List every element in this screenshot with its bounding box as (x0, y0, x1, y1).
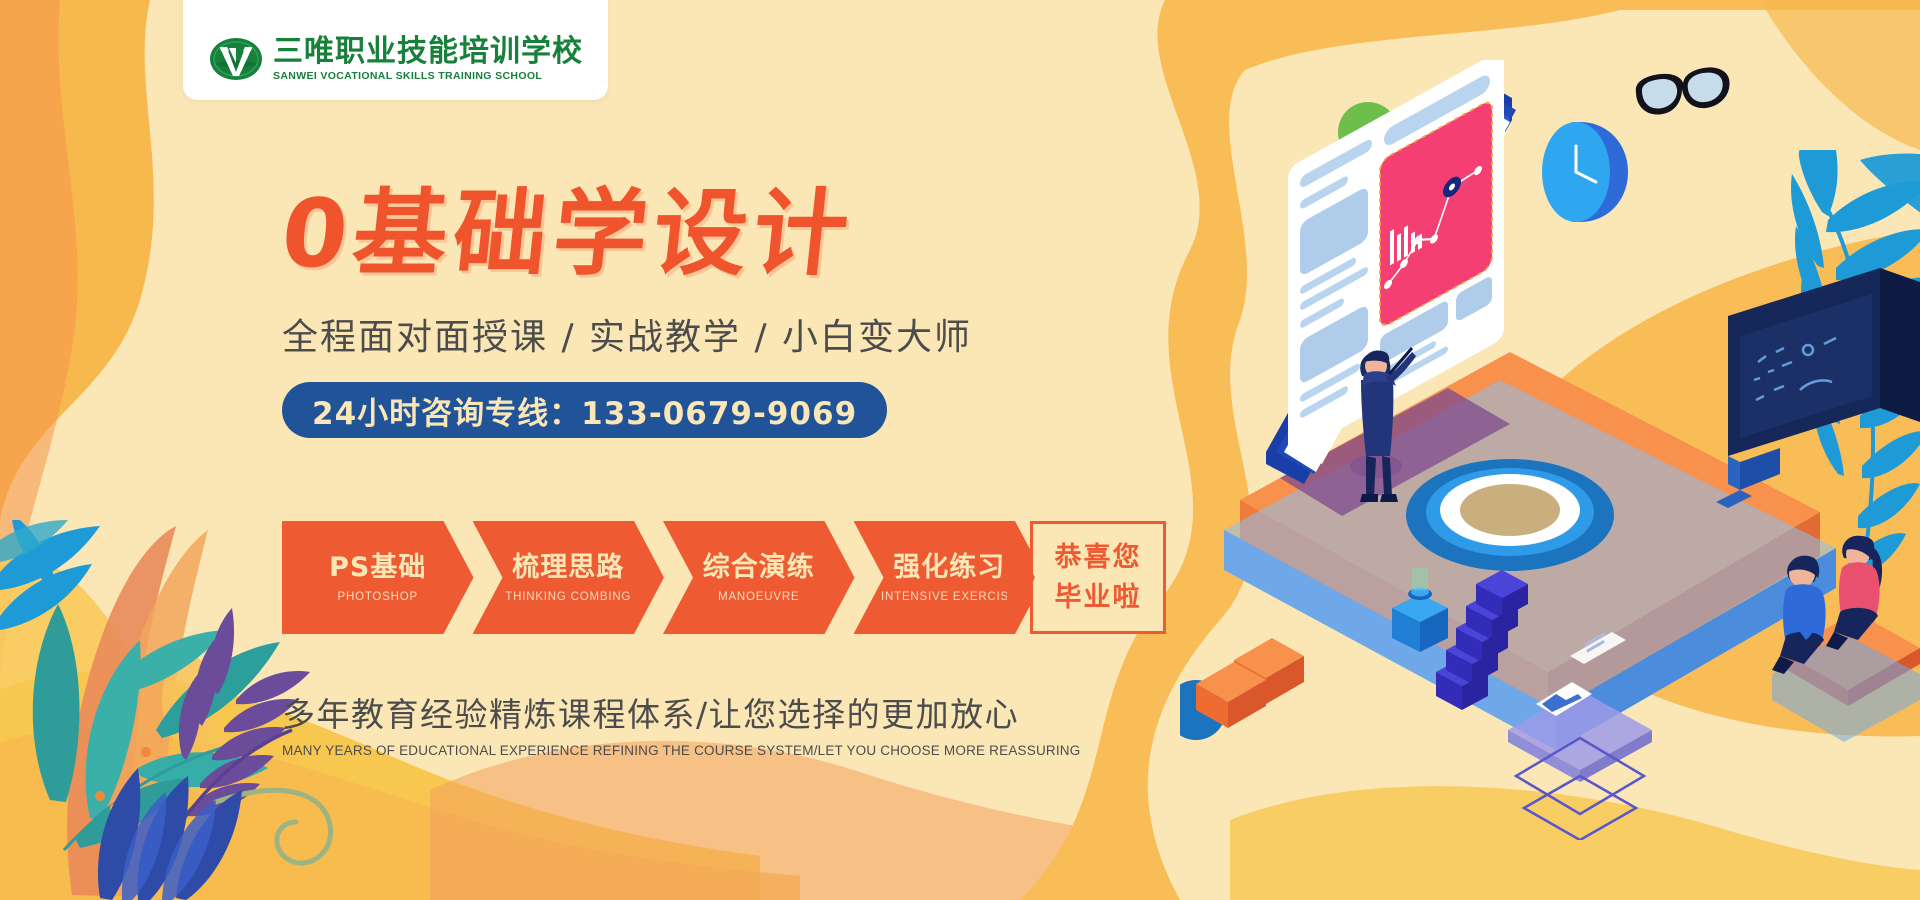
hero-subtitle: 全程面对面授课 / 实战教学 / 小白变大师 (282, 308, 1182, 360)
w-monogram-oval-icon (209, 32, 263, 86)
tagline-en: MANY YEARS OF EDUCATIONAL EXPERIENCE REF… (282, 743, 1102, 758)
seated-students (1772, 536, 1920, 742)
brand-name-cn: 三唯职业技能培训学校 (273, 36, 583, 68)
brand-logo-card[interactable]: 三唯职业技能培训学校 SANWEI VOCATIONAL SKILLS TRAI… (183, 0, 608, 100)
step-title-en: INTENSIVE EXERCISE (881, 591, 1017, 603)
wall-clock-icon (1542, 122, 1628, 222)
step-item-1[interactable]: PS基础 PHOTOSHOP (282, 521, 474, 634)
graduation-line-2: 毕业啦 (1055, 578, 1142, 617)
step-title-cn: PS基础 (329, 552, 426, 583)
footer-tagline: 多年教育经验精炼课程体系/让您选择的更加放心 MANY YEARS OF EDU… (282, 688, 1102, 758)
hero-copy: 0基础学设计 全程面对面授课 / 实战教学 / 小白变大师 24小时咨询专线：1… (282, 188, 1182, 438)
promo-banner: 三唯职业技能培训学校 SANWEI VOCATIONAL SKILLS TRAI… (0, 0, 1920, 900)
step-title-cn: 梳理思路 (512, 552, 624, 583)
illustration-svg (1180, 60, 1920, 840)
step-title-cn: 综合演练 (703, 552, 815, 583)
step-item-3[interactable]: 综合演练 MANOEUVRE (663, 521, 855, 634)
step-item-graduation[interactable]: 恭喜您 毕业啦 (1030, 521, 1166, 634)
step-title-en: PHOTOSHOP (338, 591, 418, 603)
leaf-small-topleft-icon (0, 520, 130, 640)
round-rug (1406, 459, 1614, 571)
step-title-en: MANOEUVRE (718, 591, 799, 603)
step-title-cn: 强化练习 (893, 552, 1005, 583)
leaf-cluster-topleft-icon (0, 0, 160, 280)
tagline-cn: 多年教育经验精炼课程体系/让您选择的更加放心 (282, 688, 1102, 736)
graduation-line-1: 恭喜您 (1055, 538, 1142, 577)
brand-name-en: SANWEI VOCATIONAL SKILLS TRAINING SCHOOL (273, 70, 583, 82)
eyeglasses-icon (1634, 65, 1733, 118)
consult-hotline-button[interactable]: 24小时咨询专线：133-0679-9069 (282, 382, 887, 438)
classroom-illustration (1180, 60, 1920, 840)
tv-screen (1716, 268, 1920, 508)
orange-steps (1196, 638, 1304, 728)
step-item-2[interactable]: 梳理思路 THINKING COMBING (473, 521, 665, 634)
course-steps: PS基础 PHOTOSHOP 梳理思路 THINKING COMBING 综合演… (282, 521, 1166, 634)
step-title-en: THINKING COMBING (505, 591, 631, 603)
page-title: 0基础学设计 (277, 188, 1187, 282)
